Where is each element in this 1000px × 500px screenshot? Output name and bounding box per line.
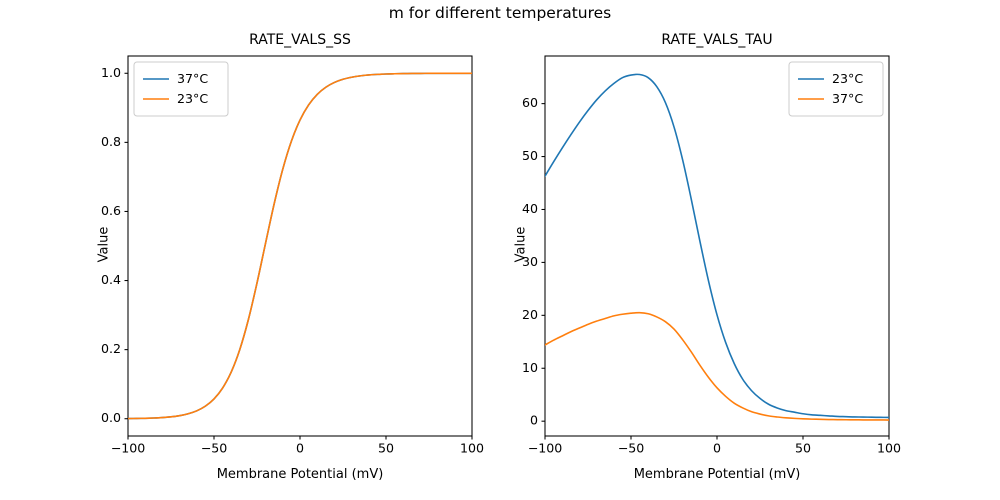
y-tick-label: 30 — [522, 254, 538, 269]
legend-rate_vals_ss[interactable]: 37°C23°C — [134, 62, 228, 116]
axes-rate_vals_ss: −100−500501000.00.20.40.60.81.037°C23°C — [101, 56, 484, 456]
data-curve-37C — [545, 313, 889, 420]
data-curve-23C — [545, 74, 889, 417]
y-tick-label: 60 — [522, 95, 538, 110]
axes-rate_vals_tau: −100−50050100010203040506023°C37°C — [522, 56, 901, 456]
y-tick-label: 50 — [522, 148, 538, 163]
y-tick-label: 0.0 — [101, 410, 121, 425]
x-tick-label: 100 — [460, 441, 484, 456]
x-tick-label: −100 — [111, 441, 146, 456]
y-tick-label: 1.0 — [101, 65, 121, 80]
y-tick-label: 0.8 — [101, 134, 121, 149]
x-tick-label: −50 — [201, 441, 228, 456]
y-tick-label: 0.2 — [101, 341, 121, 356]
legend-label: 37°C — [177, 71, 208, 86]
x-tick-label: 50 — [378, 441, 394, 456]
x-tick-label: 100 — [877, 441, 901, 456]
legend-label: 23°C — [832, 71, 863, 86]
data-curve-23C — [128, 73, 472, 418]
y-tick-label: 0 — [530, 413, 538, 428]
x-tick-label: 50 — [795, 441, 811, 456]
data-curve-37C — [128, 73, 472, 418]
x-tick-label: −50 — [618, 441, 645, 456]
y-tick-label: 0.6 — [101, 203, 121, 218]
y-tick-label: 40 — [522, 201, 538, 216]
legend-label: 23°C — [177, 91, 208, 106]
y-tick-label: 10 — [522, 360, 538, 375]
plot-surface: −100−500501000.00.20.40.60.81.037°C23°C−… — [0, 0, 1000, 500]
y-tick-label: 20 — [522, 307, 538, 322]
x-tick-label: 0 — [713, 441, 721, 456]
legend-label: 37°C — [832, 91, 863, 106]
x-tick-label: −100 — [528, 441, 563, 456]
y-tick-label: 0.4 — [101, 272, 121, 287]
legend-rate_vals_tau[interactable]: 23°C37°C — [789, 62, 883, 116]
x-tick-label: 0 — [296, 441, 304, 456]
matplotlib-figure: m for different temperatures RATE_VALS_S… — [0, 0, 1000, 500]
